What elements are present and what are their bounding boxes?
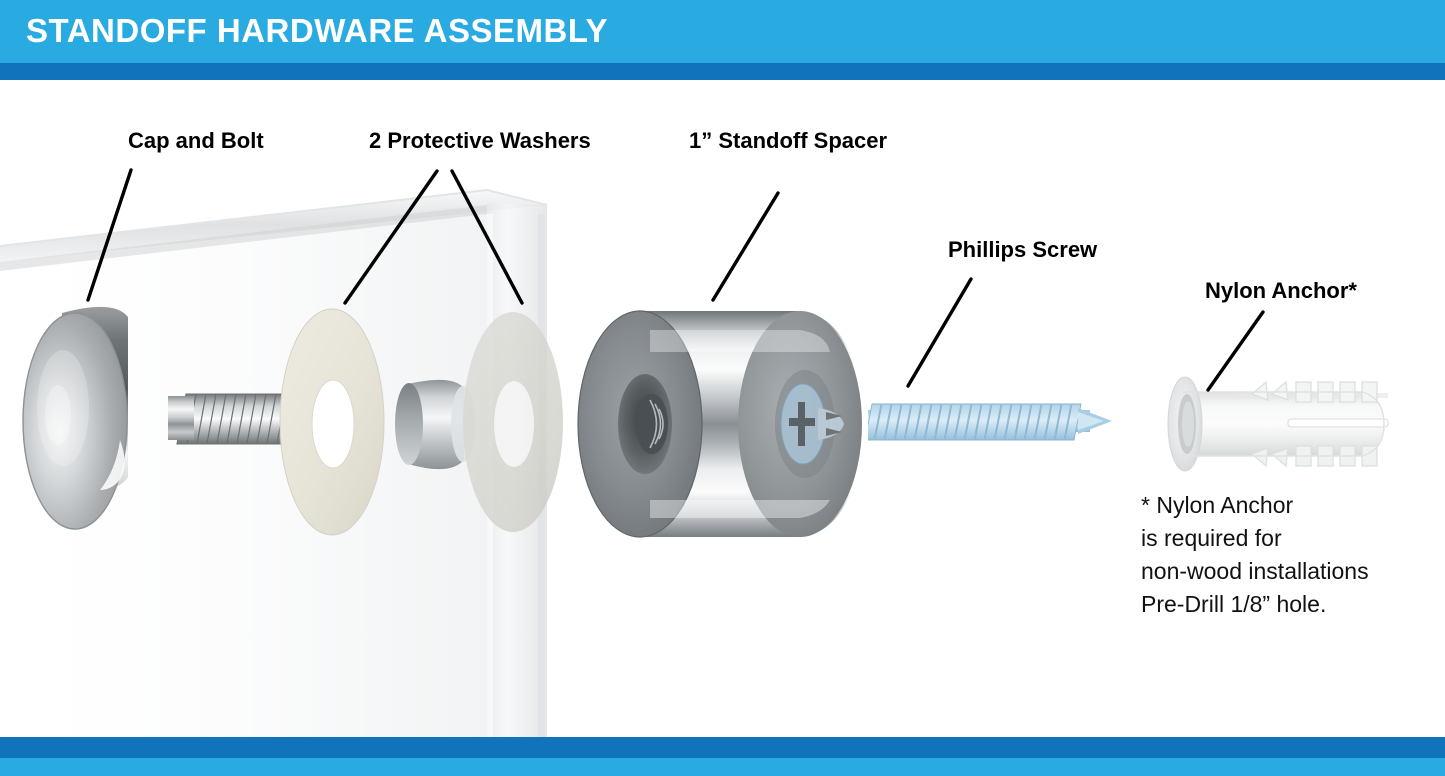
label-cap-and-bolt: Cap and Bolt (128, 128, 264, 154)
page-title: STANDOFF HARDWARE ASSEMBLY (26, 12, 608, 50)
footer-bar-dark (0, 737, 1445, 758)
header-bar-dark (0, 63, 1445, 80)
label-protective-washers: 2 Protective Washers (369, 128, 591, 154)
assembly-artwork (0, 0, 1445, 776)
diagram-page: STANDOFF HARDWARE ASSEMBLY Cap and Bolt … (0, 0, 1445, 776)
footer-bar-light (0, 758, 1445, 776)
protective-washer-back (463, 312, 563, 532)
barrel-sleeve (395, 380, 475, 469)
label-nylon-anchor: Nylon Anchor* (1205, 278, 1357, 304)
standoff-spacer-part (578, 311, 862, 537)
label-phillips-screw: Phillips Screw (948, 237, 1097, 263)
nylon-anchor-footnote: * Nylon Anchor is required for non-wood … (1141, 489, 1369, 621)
label-standoff-spacer: 1” Standoff Spacer (689, 128, 887, 154)
nylon-anchor-part (1168, 377, 1388, 471)
protective-washer-front (280, 309, 384, 535)
phillips-screw-part (865, 404, 1112, 440)
